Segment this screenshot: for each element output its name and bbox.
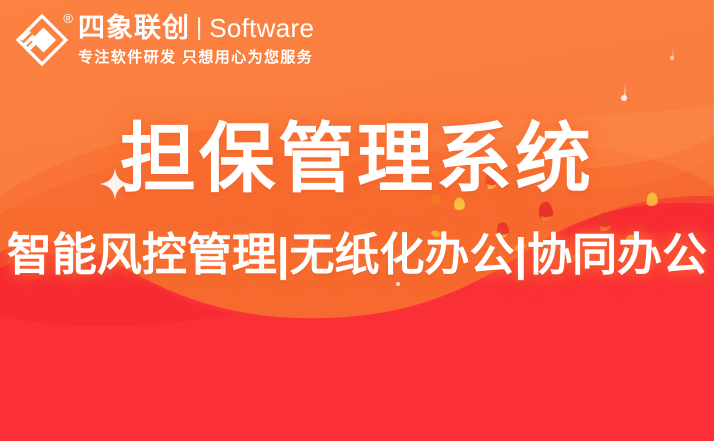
brand-separator: | (196, 16, 202, 40)
brand-name-line: 四象联创 | Software (78, 14, 314, 42)
sparkle-dot (621, 95, 627, 101)
subtitle-block: 智能风控管理|无纸化办公|协同办公 (0, 232, 714, 277)
headline-block: 担保管理系统 (0, 122, 714, 198)
registered-trademark-icon: ® (63, 12, 73, 25)
brand-tagline: 专注软件研发 只想用心为您服务 (78, 46, 314, 67)
brand-text: 四象联创 | Software 专注软件研发 只想用心为您服务 (78, 10, 314, 67)
sparkle-dot (670, 56, 674, 60)
layered-diamond-pages-icon: ® (14, 12, 70, 68)
brand-name-en: Software (209, 15, 314, 42)
four-point-star-sparkle-icon (98, 167, 132, 201)
sparkle-dot (396, 282, 400, 286)
page-subtitle: 智能风控管理|无纸化办公|协同办公 (7, 232, 707, 277)
confetti-petal (539, 202, 553, 221)
promo-banner: ® 四象联创 | Software 专注软件研发 只想用心为您服务 担保管理系统… (0, 0, 714, 441)
brand-logo: ® 四象联创 | Software 专注软件研发 只想用心为您服务 (14, 10, 314, 68)
brand-name-cn: 四象联创 (78, 14, 190, 42)
sparkle-trail (672, 47, 674, 56)
page-title: 担保管理系统 (120, 122, 594, 198)
